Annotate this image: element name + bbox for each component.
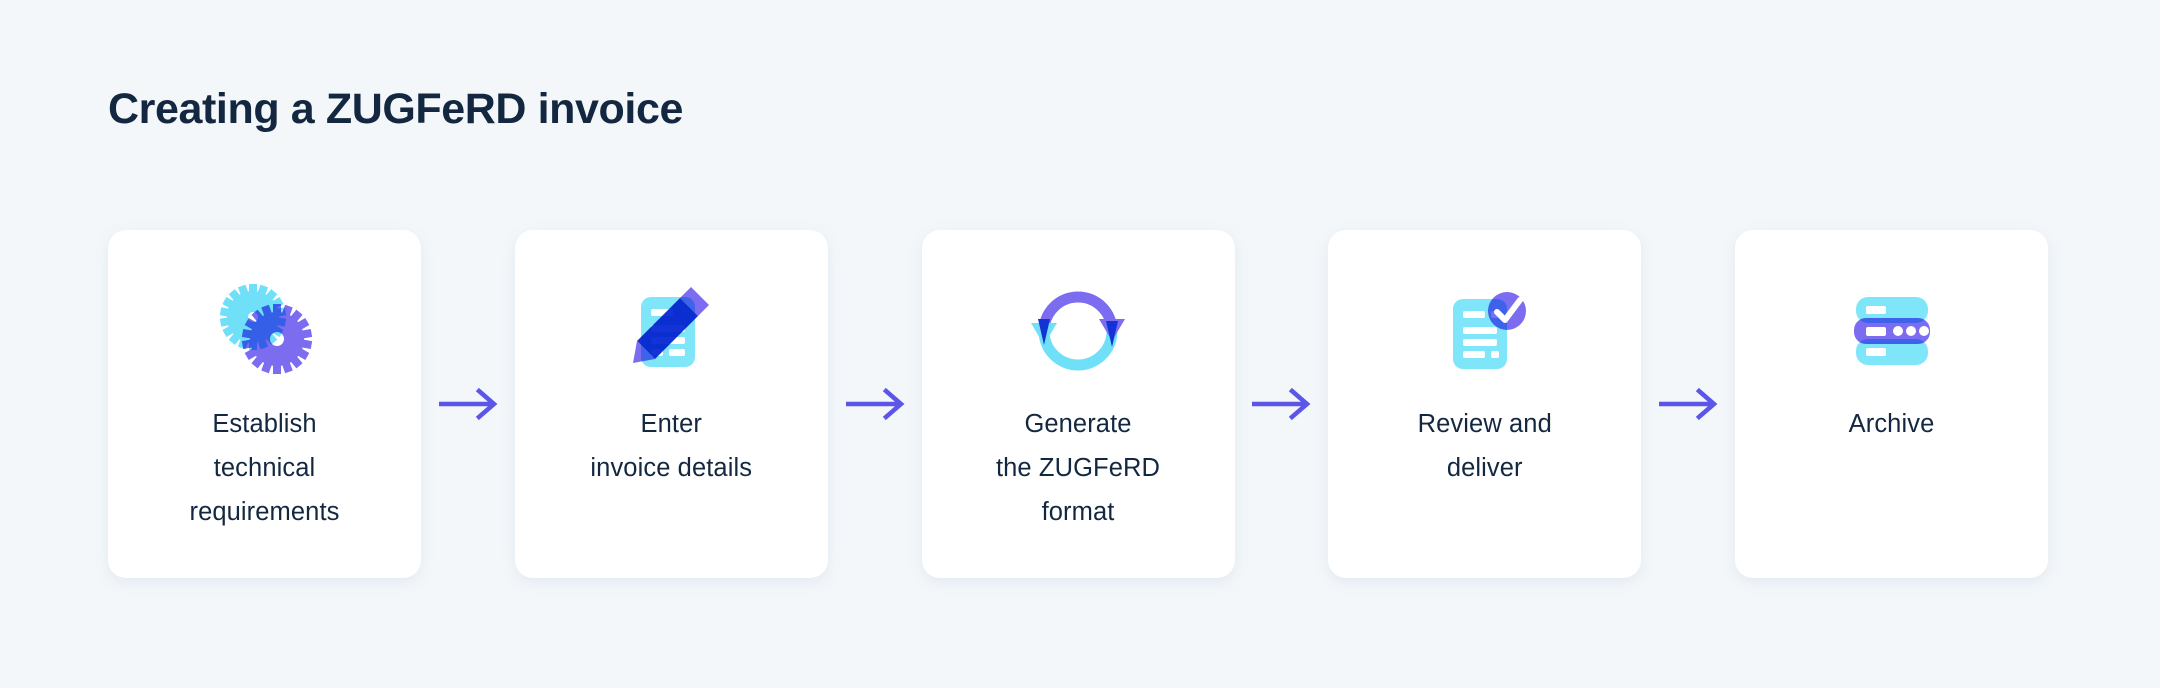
step-card-label: Archive — [1831, 402, 1953, 446]
document-pencil-icon — [616, 276, 726, 386]
server-stack-icon — [1837, 276, 1947, 386]
step-card-3[interactable]: Generate the ZUGFeRD format — [922, 230, 1235, 578]
process-flow: Establish technical requirements — [108, 230, 2048, 578]
arrow-right-icon — [1235, 230, 1327, 578]
arrow-right-icon — [1642, 230, 1734, 578]
refresh-cycle-icon — [1023, 276, 1133, 386]
flow-diagram-page: Creating a ZUGFeRD invoice — [0, 0, 2160, 688]
step-card-2[interactable]: Enter invoice details — [515, 230, 828, 578]
step-card-label: Review and deliver — [1400, 402, 1570, 490]
arrow-right-icon — [422, 230, 514, 578]
step-card-4[interactable]: Review and deliver — [1328, 230, 1641, 578]
step-card-5[interactable]: Archive — [1735, 230, 2048, 578]
gears-icon — [210, 276, 320, 386]
step-card-label: Establish technical requirements — [171, 402, 357, 534]
step-card-label: Enter invoice details — [572, 402, 770, 490]
step-card-1[interactable]: Establish technical requirements — [108, 230, 421, 578]
document-check-icon — [1430, 276, 1540, 386]
arrow-right-icon — [829, 230, 921, 578]
page-title: Creating a ZUGFeRD invoice — [108, 85, 683, 134]
step-card-label: Generate the ZUGFeRD format — [978, 402, 1178, 534]
